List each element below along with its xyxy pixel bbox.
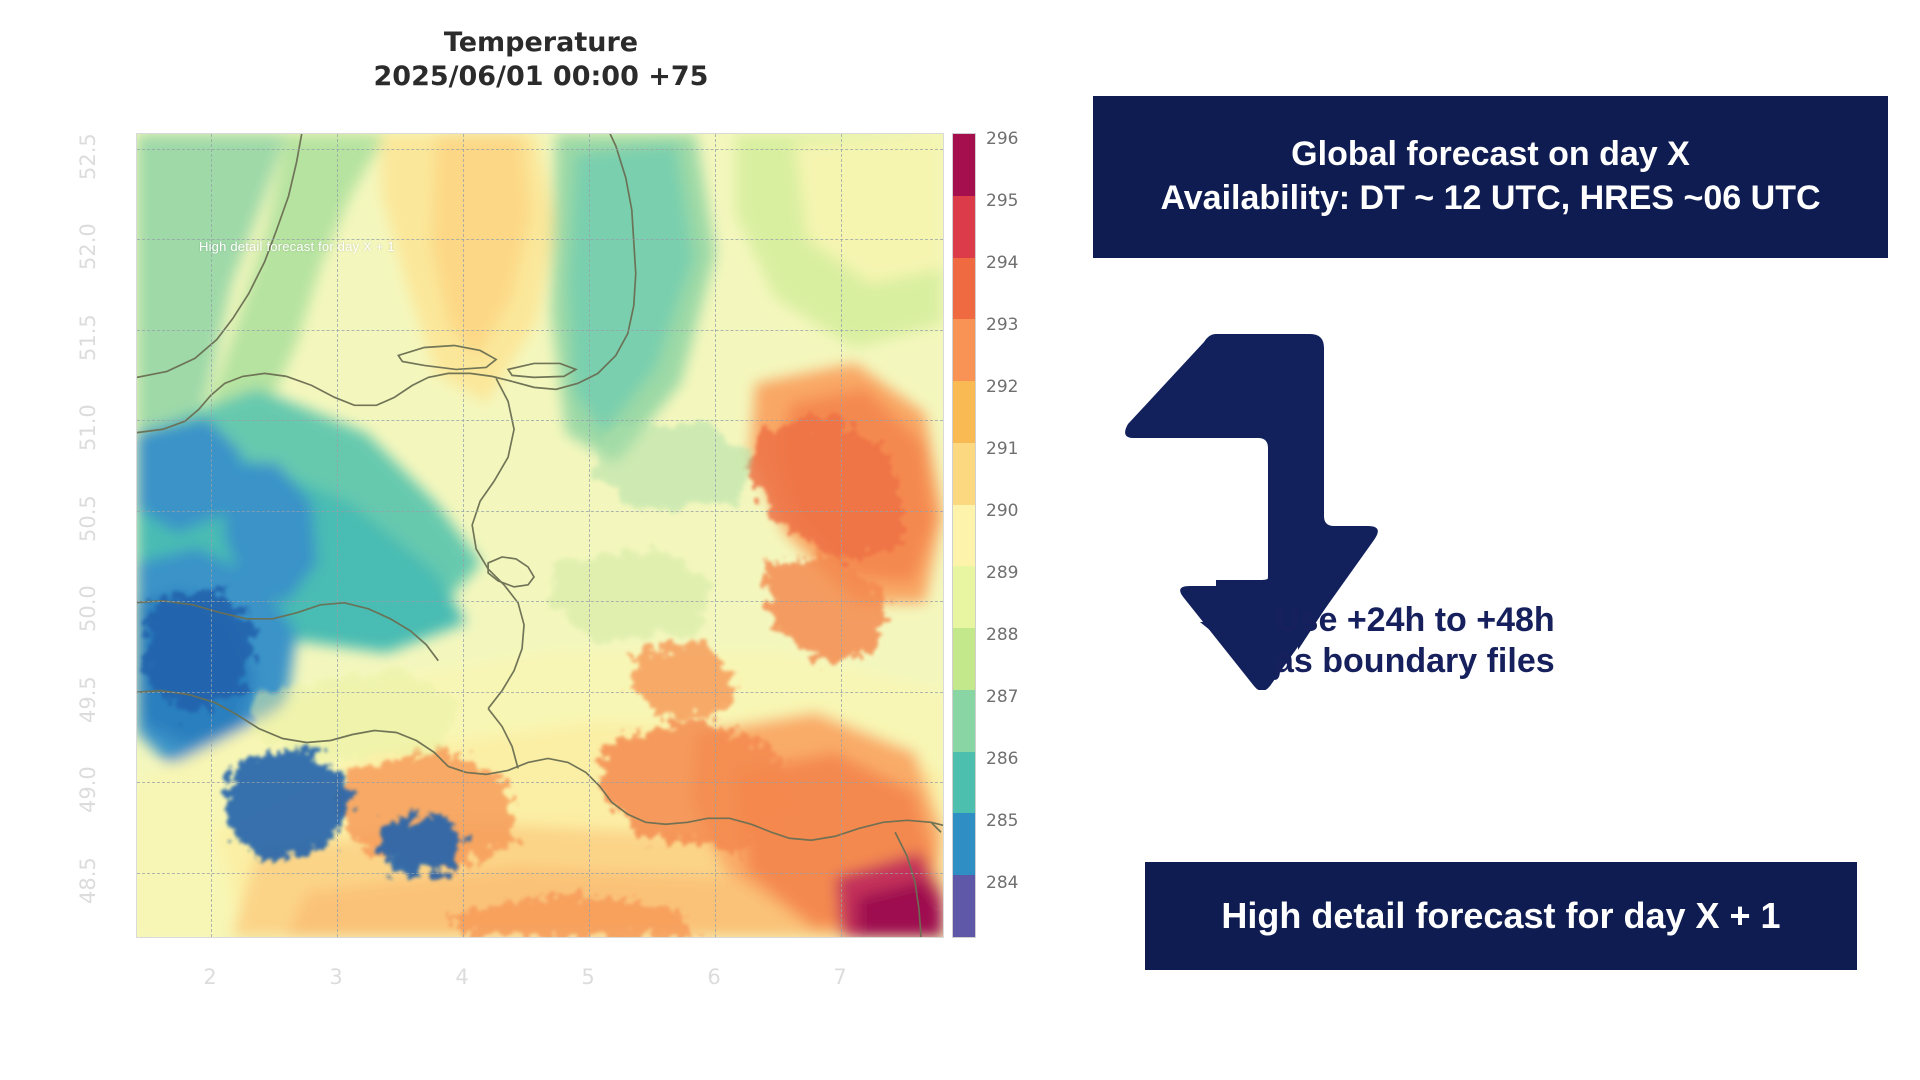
colorbar-tick-label: 287 — [986, 687, 1018, 707]
colorbar-tick-label: 291 — [986, 439, 1018, 459]
y-tick-label: 52.0 — [76, 210, 100, 270]
y-tick-label: 51.0 — [76, 391, 100, 451]
colorbar-tick-label: 288 — [986, 625, 1018, 645]
x-tick-label: 5 — [568, 965, 608, 989]
figure-title: Temperature 2025/06/01 00:00 +75 — [136, 26, 946, 94]
x-tick-label: 6 — [694, 965, 734, 989]
colorbar-tick-label: 294 — [986, 253, 1018, 273]
colorbar-band — [953, 258, 975, 320]
colorbar-band — [953, 813, 975, 875]
y-tick-label: 51.5 — [76, 301, 100, 361]
colorbar-band — [953, 381, 975, 443]
boundary-files-label: Use +24h to +48h as boundary files — [1275, 600, 1605, 683]
temperature-field — [137, 134, 943, 937]
map-overlay-annotation: High detail forecast for day X + 1 — [199, 239, 395, 254]
colorbar-tick-label: 290 — [986, 501, 1018, 521]
colorbar-band — [953, 628, 975, 690]
x-tick-label: 4 — [442, 965, 482, 989]
colorbar-band — [953, 319, 975, 381]
colorbar-tick-label: 293 — [986, 315, 1018, 335]
colorbar-band — [953, 566, 975, 628]
colorbar-tick-label: 292 — [986, 377, 1018, 397]
colorbar-band — [953, 690, 975, 752]
map-plot-area: High detail forecast for day X + 1 — [136, 133, 944, 938]
y-tick-label: 49.5 — [76, 663, 100, 723]
global-forecast-box: Global forecast on day X Availability: D… — [1093, 96, 1888, 258]
colorbar-band — [953, 875, 975, 937]
y-tick-label: 52.5 — [76, 120, 100, 180]
colorbar-band — [953, 443, 975, 505]
workflow-diagram: Global forecast on day X Availability: D… — [1060, 0, 1920, 1080]
y-tick-label: 50.5 — [76, 482, 100, 542]
slide-root: Temperature 2025/06/01 00:00 +75 — [0, 0, 1920, 1080]
colorbar-tick-label: 296 — [986, 129, 1018, 149]
x-tick-label: 3 — [316, 965, 356, 989]
colorbar-band — [953, 752, 975, 814]
colorbar-band — [953, 505, 975, 567]
y-tick-label: 50.0 — [76, 572, 100, 632]
colorbar-band — [953, 196, 975, 258]
colorbar-tick-label: 286 — [986, 749, 1018, 769]
colorbar-tick-label: 289 — [986, 563, 1018, 583]
x-tick-label: 7 — [820, 965, 860, 989]
colorbar-band — [953, 134, 975, 196]
colorbar-gradient — [952, 133, 976, 938]
y-tick-label: 48.5 — [76, 844, 100, 904]
high-detail-forecast-box: High detail forecast for day X + 1 — [1145, 862, 1857, 970]
y-tick-label: 49.0 — [76, 753, 100, 813]
colorbar-tick-label: 285 — [986, 811, 1018, 831]
colorbar: 296 295 294 293 292 291 290 289 288 287 … — [952, 133, 1052, 938]
colorbar-tick-label: 295 — [986, 191, 1018, 211]
colorbar-tick-label: 284 — [986, 873, 1018, 893]
temperature-figure: Temperature 2025/06/01 00:00 +75 — [0, 0, 1060, 1080]
x-tick-label: 2 — [190, 965, 230, 989]
